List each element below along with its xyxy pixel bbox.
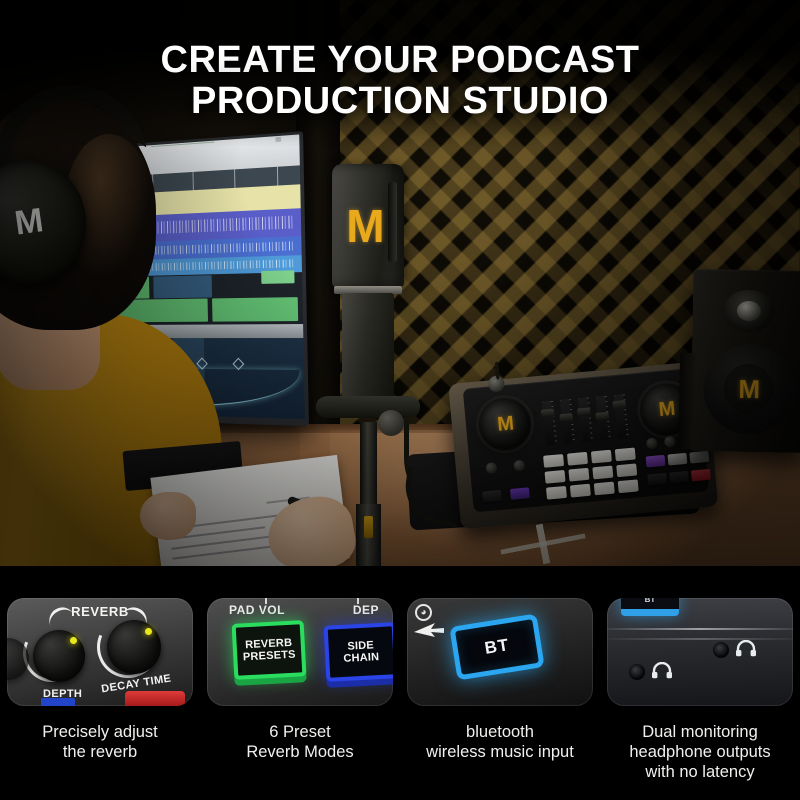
feature-card-reverb-knobs: REVERB DEPTH DECAY TIME [0, 588, 200, 716]
label-depth: DEP [353, 603, 379, 617]
feature-image-reverb-presets: PAD VOL DEP REVERB PRESETS SIDE CHAIN [207, 598, 393, 706]
caption-line: with no latency [608, 762, 792, 782]
headline-line-1: CREATE YOUR PODCAST [0, 40, 800, 81]
product-poster: M M [0, 0, 800, 800]
feature-image-reverb-knobs: REVERB DEPTH DECAY TIME [7, 598, 193, 706]
bluetooth-button-edge[interactable]: BT [621, 598, 679, 616]
feature-caption-row: Precisely adjust the reverb 6 Preset Rev… [0, 722, 800, 800]
caption-headphone-outputs: Dual monitoring headphone outputs with n… [600, 722, 800, 800]
panel-chip-blue [41, 698, 75, 706]
headphone-jack-2[interactable] [629, 664, 645, 680]
reverb-presets-label-2: PRESETS [243, 649, 296, 664]
headphone-icon [651, 662, 673, 679]
headphone-icon [735, 640, 757, 657]
bluetooth-icon: ◕ [415, 604, 432, 621]
caption-reverb-knobs: Precisely adjust the reverb [0, 722, 200, 800]
label-pad-vol: PAD VOL [229, 603, 285, 617]
panel-seam-upper [607, 628, 793, 630]
feature-image-bluetooth: ◕ BT [407, 598, 593, 706]
panel-seam-lower [607, 638, 793, 640]
panel-chip-red [125, 691, 185, 706]
reverb-depth-knob[interactable] [33, 630, 85, 682]
bluetooth-button-label: BT [483, 635, 510, 659]
caption-line: Dual monitoring [608, 722, 792, 742]
headphone-jack-1[interactable] [713, 642, 729, 658]
caption-line: headphone outputs [608, 742, 792, 762]
reverb-presets-button[interactable]: REVERB PRESETS [232, 620, 307, 680]
page-title: CREATE YOUR PODCAST PRODUCTION STUDIO [0, 40, 800, 122]
side-chain-label-2: CHAIN [343, 651, 379, 665]
hero-photo: M M [0, 0, 800, 566]
reverb-decay-knob[interactable] [107, 620, 161, 674]
feature-image-headphone-outputs: BT [607, 598, 793, 706]
feature-card-row: REVERB DEPTH DECAY TIME [0, 588, 800, 716]
caption-line: bluetooth [408, 722, 592, 742]
knob-led-icon [145, 628, 152, 635]
feature-card-headphone-outputs: BT [600, 588, 800, 716]
caption-bluetooth: bluetooth wireless music input [400, 722, 600, 800]
feature-card-bluetooth: ◕ BT [400, 588, 600, 716]
side-chain-button[interactable]: SIDE CHAIN [324, 622, 393, 682]
bluetooth-button[interactable]: BT [449, 613, 544, 680]
caption-line: Reverb Modes [208, 742, 392, 762]
feature-card-reverb-presets: PAD VOL DEP REVERB PRESETS SIDE CHAIN [200, 588, 400, 716]
caption-line: 6 Preset [208, 722, 392, 742]
caption-line: wireless music input [408, 742, 592, 762]
caption-reverb-presets: 6 Preset Reverb Modes [200, 722, 400, 800]
bluetooth-chip-label: BT [645, 598, 656, 604]
arrow-icon [413, 622, 447, 638]
knob-led-icon [70, 637, 77, 644]
caption-line: the reverb [8, 742, 192, 762]
feature-strip: REVERB DEPTH DECAY TIME [0, 566, 800, 800]
caption-line: Precisely adjust [8, 722, 192, 742]
headline-line-2: PRODUCTION STUDIO [0, 81, 800, 122]
